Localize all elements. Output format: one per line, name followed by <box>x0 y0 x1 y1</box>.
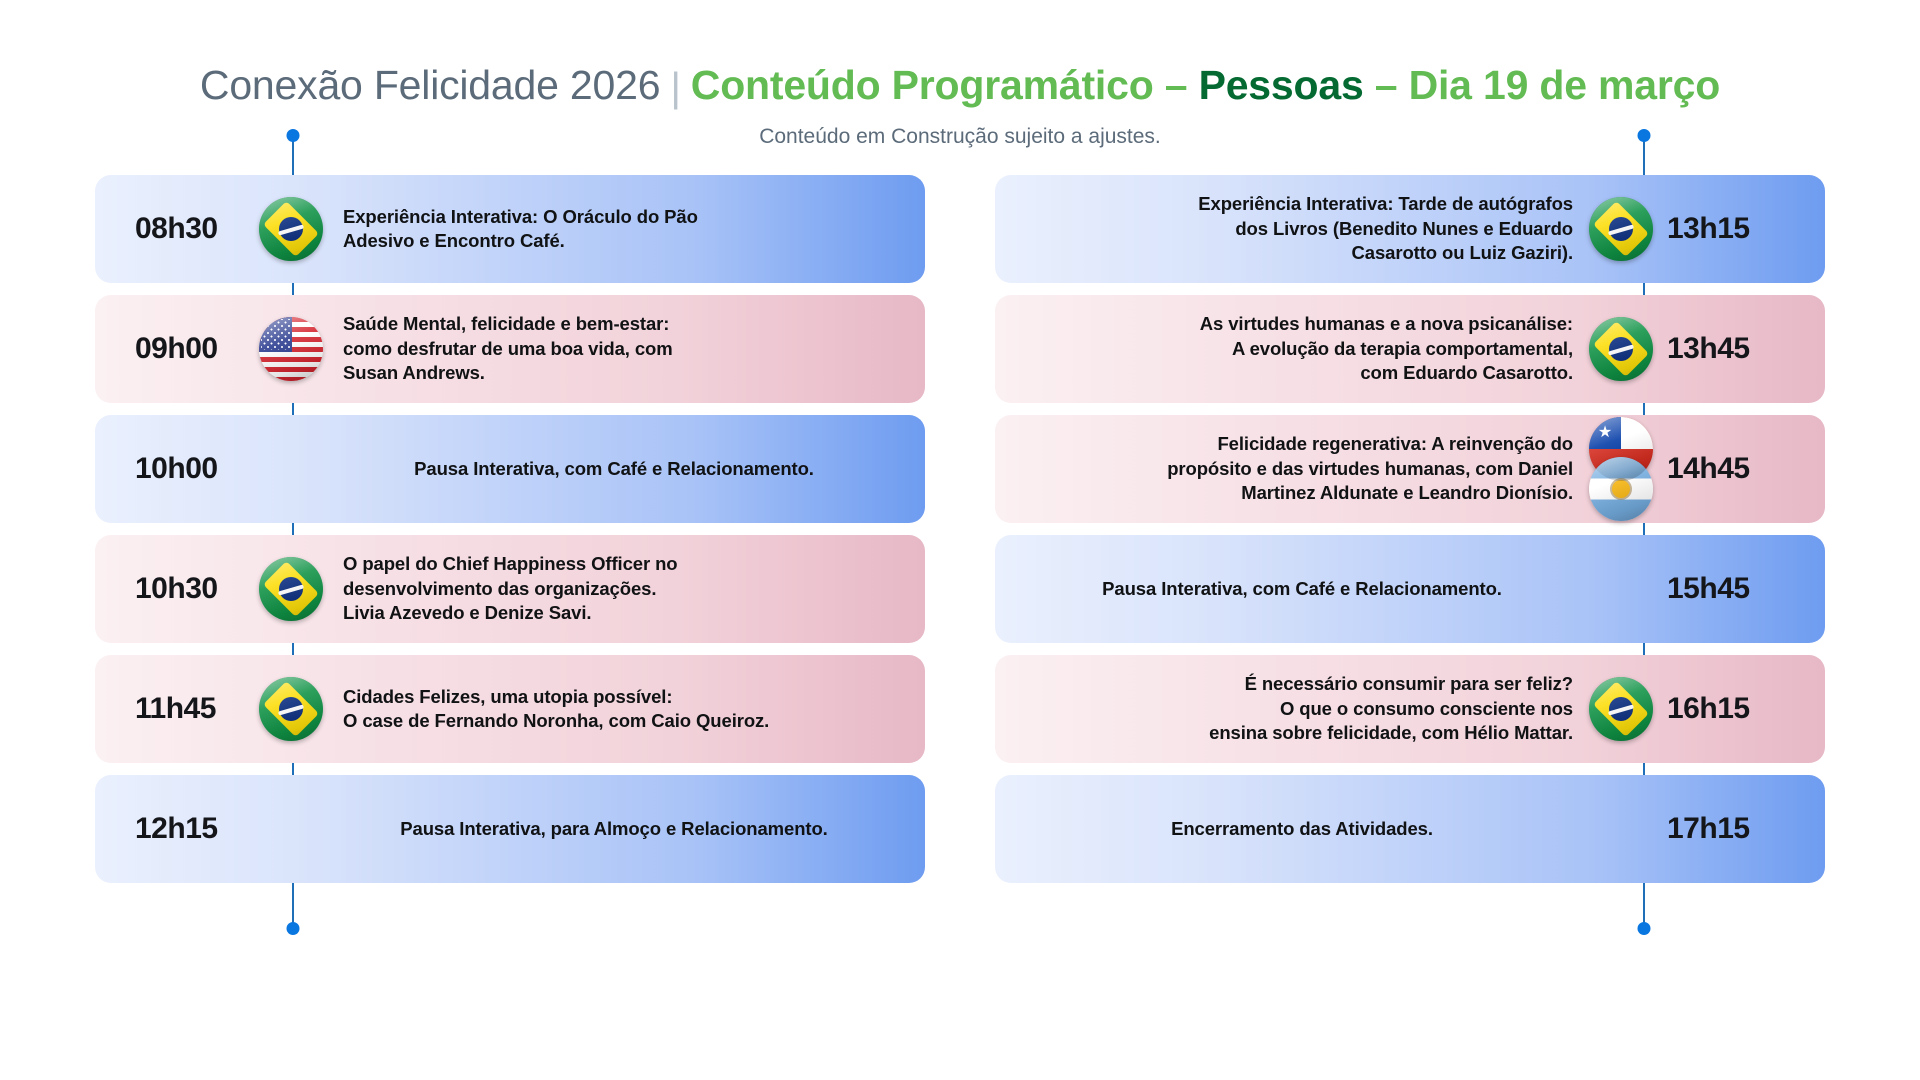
session-description: Encerramento das Atividades. <box>1021 817 1583 842</box>
session-description-line: Experiência Interativa: O Oráculo do Pão <box>343 205 698 230</box>
session-description-line: Adesivo e Encontro Café. <box>343 229 698 254</box>
session-description: Cidades Felizes, uma utopia possível:O c… <box>329 685 769 734</box>
brazil-flag-icon <box>259 557 323 621</box>
session-description: Saúde Mental, felicidade e bem-estar:com… <box>329 312 673 386</box>
session-flag-slot <box>253 295 329 403</box>
session-description: Pausa Interativa, com Café e Relacioname… <box>1021 577 1583 602</box>
agenda-row[interactable]: Pausa Interativa, com Café e Relacioname… <box>995 535 1825 643</box>
agenda-row[interactable]: É necessário consumir para ser feliz?O q… <box>995 655 1825 763</box>
brazil-flag-icon <box>1589 197 1653 261</box>
session-description-line: dos Livros (Benedito Nunes e Eduardo <box>1021 217 1573 242</box>
title-event-name: Conexão Felicidade 2026 <box>200 62 660 108</box>
session-description-line: Susan Andrews. <box>343 361 673 386</box>
title-separator: | <box>660 64 690 110</box>
title-date-label: – Dia 19 de março <box>1375 62 1720 108</box>
agenda-row[interactable]: 08h30Experiência Interativa: O Oráculo d… <box>95 175 925 283</box>
agenda-row[interactable]: Experiência Interativa: Tarde de autógra… <box>995 175 1825 283</box>
session-description: Pausa Interativa, com Café e Relacioname… <box>329 457 899 482</box>
session-description-line: desenvolvimento das organizações. <box>343 577 678 602</box>
session-flag-slot <box>253 415 329 523</box>
session-time: 12h15 <box>135 812 253 846</box>
session-description-line: Cidades Felizes, uma utopia possível: <box>343 685 769 710</box>
title-program-label: Conteúdo Programático – <box>691 62 1188 108</box>
session-description-line: Saúde Mental, felicidade e bem-estar: <box>343 312 673 337</box>
session-time: 16h15 <box>1659 692 1785 726</box>
agenda-row[interactable]: 11h45Cidades Felizes, uma utopia possíve… <box>95 655 925 763</box>
session-flag-slot <box>1583 535 1659 643</box>
page-header: Conexão Felicidade 2026|Conteúdo Program… <box>0 0 1920 149</box>
session-flag-slot <box>1583 175 1659 283</box>
session-flag-slot <box>253 655 329 763</box>
session-time: 13h15 <box>1659 212 1785 246</box>
session-description-line: Casarotto ou Luiz Gaziri). <box>1021 241 1573 266</box>
session-description: Pausa Interativa, para Almoço e Relacion… <box>329 817 899 842</box>
session-description-line: propósito e das virtudes humanas, com Da… <box>1021 457 1573 482</box>
title-track-label: Pessoas <box>1199 62 1364 108</box>
session-time: 11h45 <box>135 692 253 726</box>
agenda-row[interactable]: As virtudes humanas e a nova psicanálise… <box>995 295 1825 403</box>
argentina-flag-icon <box>1589 457 1653 521</box>
session-description: As virtudes humanas e a nova psicanálise… <box>1021 312 1583 386</box>
agenda-row[interactable]: 12h15Pausa Interativa, para Almoço e Rel… <box>95 775 925 883</box>
session-description-line: com Eduardo Casarotto. <box>1021 361 1573 386</box>
session-description-line: Pausa Interativa, com Café e Relacioname… <box>329 457 899 482</box>
session-flag-slot <box>253 535 329 643</box>
agenda-row[interactable]: 10h00Pausa Interativa, com Café e Relaci… <box>95 415 925 523</box>
session-description-line: Pausa Interativa, com Café e Relacioname… <box>1021 577 1583 602</box>
session-description-line: O que o consumo consciente nos <box>1021 697 1573 722</box>
session-time: 10h30 <box>135 572 253 606</box>
session-flag-slot <box>253 775 329 883</box>
agenda-rows-right: Experiência Interativa: Tarde de autógra… <box>995 175 1825 883</box>
session-description-line: A evolução da terapia comportamental, <box>1021 337 1573 362</box>
session-description-line: Livia Azevedo e Denize Savi. <box>343 601 678 626</box>
session-time: 14h45 <box>1659 452 1785 486</box>
session-time: 13h45 <box>1659 332 1785 366</box>
agenda-row[interactable]: 10h30O papel do Chief Happiness Officer … <box>95 535 925 643</box>
agenda-rows-left: 08h30Experiência Interativa: O Oráculo d… <box>95 175 925 883</box>
session-description-line: Felicidade regenerativa: A reinvenção do <box>1021 432 1573 457</box>
session-time: 08h30 <box>135 212 253 246</box>
session-description-line: É necessário consumir para ser feliz? <box>1021 672 1573 697</box>
agenda-row[interactable]: 09h00Saúde Mental, felicidade e bem-esta… <box>95 295 925 403</box>
session-description: Experiência Interativa: Tarde de autógra… <box>1021 192 1583 266</box>
agenda-row[interactable]: Encerramento das Atividades.17h15 <box>995 775 1825 883</box>
session-flag-slot <box>1583 775 1659 883</box>
session-description-line: Martinez Aldunate e Leandro Dionísio. <box>1021 481 1573 506</box>
brazil-flag-icon <box>1589 677 1653 741</box>
session-flag-slot <box>1583 655 1659 763</box>
session-description-line: O papel do Chief Happiness Officer no <box>343 552 678 577</box>
session-description: Felicidade regenerativa: A reinvenção do… <box>1021 432 1583 506</box>
session-description-line: O case de Fernando Noronha, com Caio Que… <box>343 709 769 734</box>
brazil-flag-icon <box>259 677 323 741</box>
agenda-column-afternoon: Experiência Interativa: Tarde de autógra… <box>995 175 1825 895</box>
agenda-column-morning: 08h30Experiência Interativa: O Oráculo d… <box>95 175 925 895</box>
session-flag-slot <box>1583 295 1659 403</box>
session-description: Experiência Interativa: O Oráculo do Pão… <box>329 205 698 254</box>
argentina-flag-sun <box>1612 480 1630 498</box>
agenda-board: 08h30Experiência Interativa: O Oráculo d… <box>0 175 1920 895</box>
page-title: Conexão Felicidade 2026|Conteúdo Program… <box>0 62 1920 109</box>
brazil-flag-icon <box>1589 317 1653 381</box>
session-description-line: como desfrutar de uma boa vida, com <box>343 337 673 362</box>
session-description-line: Experiência Interativa: Tarde de autógra… <box>1021 192 1573 217</box>
session-flag-slot <box>253 175 329 283</box>
usa-flag-icon <box>259 317 323 381</box>
session-description: É necessário consumir para ser feliz?O q… <box>1021 672 1583 746</box>
chile-argentina-flags-icon: ★ <box>1589 417 1653 521</box>
session-flag-slot: ★ <box>1583 415 1659 523</box>
brazil-flag-icon <box>259 197 323 261</box>
agenda-row[interactable]: Felicidade regenerativa: A reinvenção do… <box>995 415 1825 523</box>
usa-flag-stars <box>261 319 291 350</box>
session-description-line: Pausa Interativa, para Almoço e Relacion… <box>329 817 899 842</box>
session-description-line: ensina sobre felicidade, com Hélio Matta… <box>1021 721 1573 746</box>
session-time: 15h45 <box>1659 572 1785 606</box>
chile-flag-star: ★ <box>1598 425 1612 441</box>
session-time: 09h00 <box>135 332 253 366</box>
session-description-line: As virtudes humanas e a nova psicanálise… <box>1021 312 1573 337</box>
session-time: 17h15 <box>1659 812 1785 846</box>
session-time: 10h00 <box>135 452 253 486</box>
session-description-line: Encerramento das Atividades. <box>1021 817 1583 842</box>
session-description: O papel do Chief Happiness Officer nodes… <box>329 552 678 626</box>
